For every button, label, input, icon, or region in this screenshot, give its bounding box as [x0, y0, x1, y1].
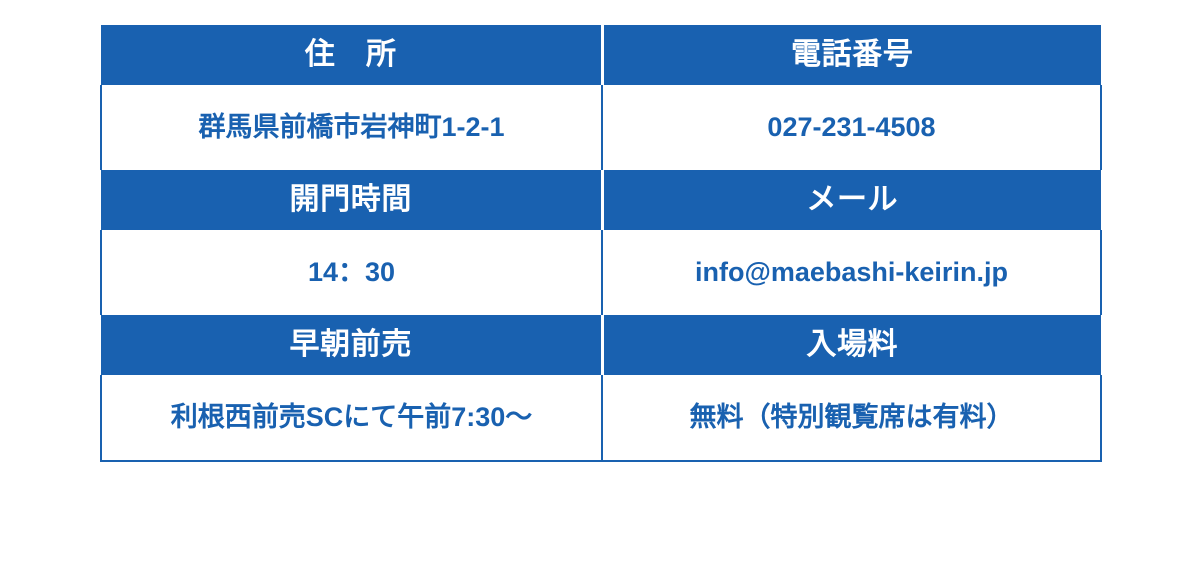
page-root: 住 所 電話番号 群馬県前橋市岩神町1-2-1 027-231-4508 開門時… — [0, 0, 1200, 584]
table-row: 群馬県前橋市岩神町1-2-1 027-231-4508 — [101, 85, 1101, 170]
table-row: 利根西前売SCにて午前7:30〜 無料（特別観覧席は有料） — [101, 375, 1101, 461]
header-admission-fee: 入場料 — [602, 315, 1101, 375]
venue-info-table: 住 所 電話番号 群馬県前橋市岩神町1-2-1 027-231-4508 開門時… — [100, 25, 1102, 462]
header-mail: メール — [602, 170, 1101, 230]
value-gate-open-time: 14：30 — [101, 230, 602, 315]
value-mail: info@maebashi-keirin.jp — [602, 230, 1101, 315]
header-gate-open-time: 開門時間 — [101, 170, 602, 230]
header-early-advance-sale: 早朝前売 — [101, 315, 602, 375]
value-admission-fee: 無料（特別観覧席は有料） — [602, 375, 1101, 461]
value-early-advance-sale: 利根西前売SCにて午前7:30〜 — [101, 375, 602, 461]
table-header-row: 早朝前売 入場料 — [101, 315, 1101, 375]
value-address: 群馬県前橋市岩神町1-2-1 — [101, 85, 602, 170]
table-header-row: 開門時間 メール — [101, 170, 1101, 230]
header-address: 住 所 — [101, 25, 602, 85]
table-header-row: 住 所 電話番号 — [101, 25, 1101, 85]
value-phone: 027-231-4508 — [602, 85, 1101, 170]
header-phone: 電話番号 — [602, 25, 1101, 85]
table-row: 14：30 info@maebashi-keirin.jp — [101, 230, 1101, 315]
